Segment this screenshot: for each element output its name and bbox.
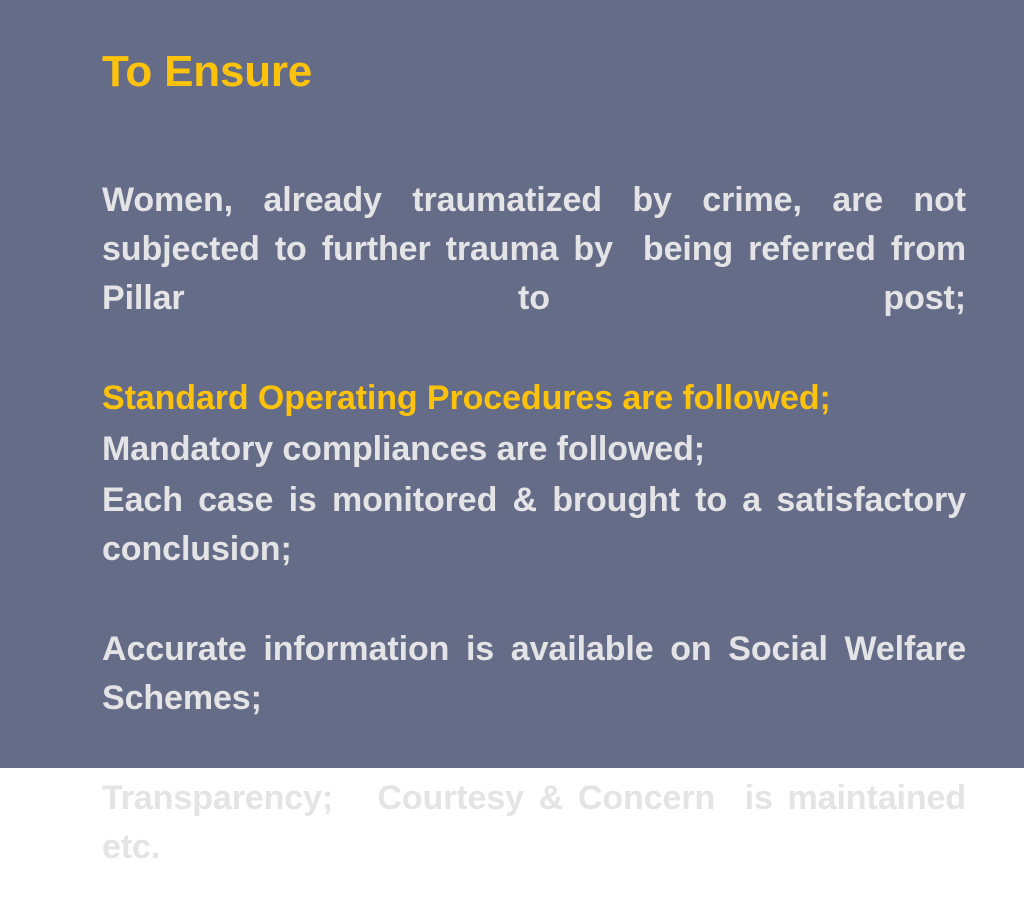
- body-paragraph-3: Mandatory compliances are followed;: [102, 425, 966, 474]
- body-paragraph-5: Accurate information is available on Soc…: [102, 625, 966, 772]
- page-title: To Ensure: [102, 50, 962, 94]
- slide-canvas: To Ensure Women, already traumatized by …: [0, 0, 1024, 768]
- body-paragraph-1: Women, already traumatized by crime, are…: [102, 176, 966, 372]
- body-paragraph-6: Transparency; Courtesy & Concern is main…: [102, 774, 966, 921]
- body-paragraph-2-highlighted: Standard Operating Procedures are follow…: [102, 374, 966, 423]
- body-paragraph-4: Each case is monitored & brought to a sa…: [102, 476, 966, 623]
- slide-body-content: Women, already traumatized by crime, are…: [102, 176, 966, 923]
